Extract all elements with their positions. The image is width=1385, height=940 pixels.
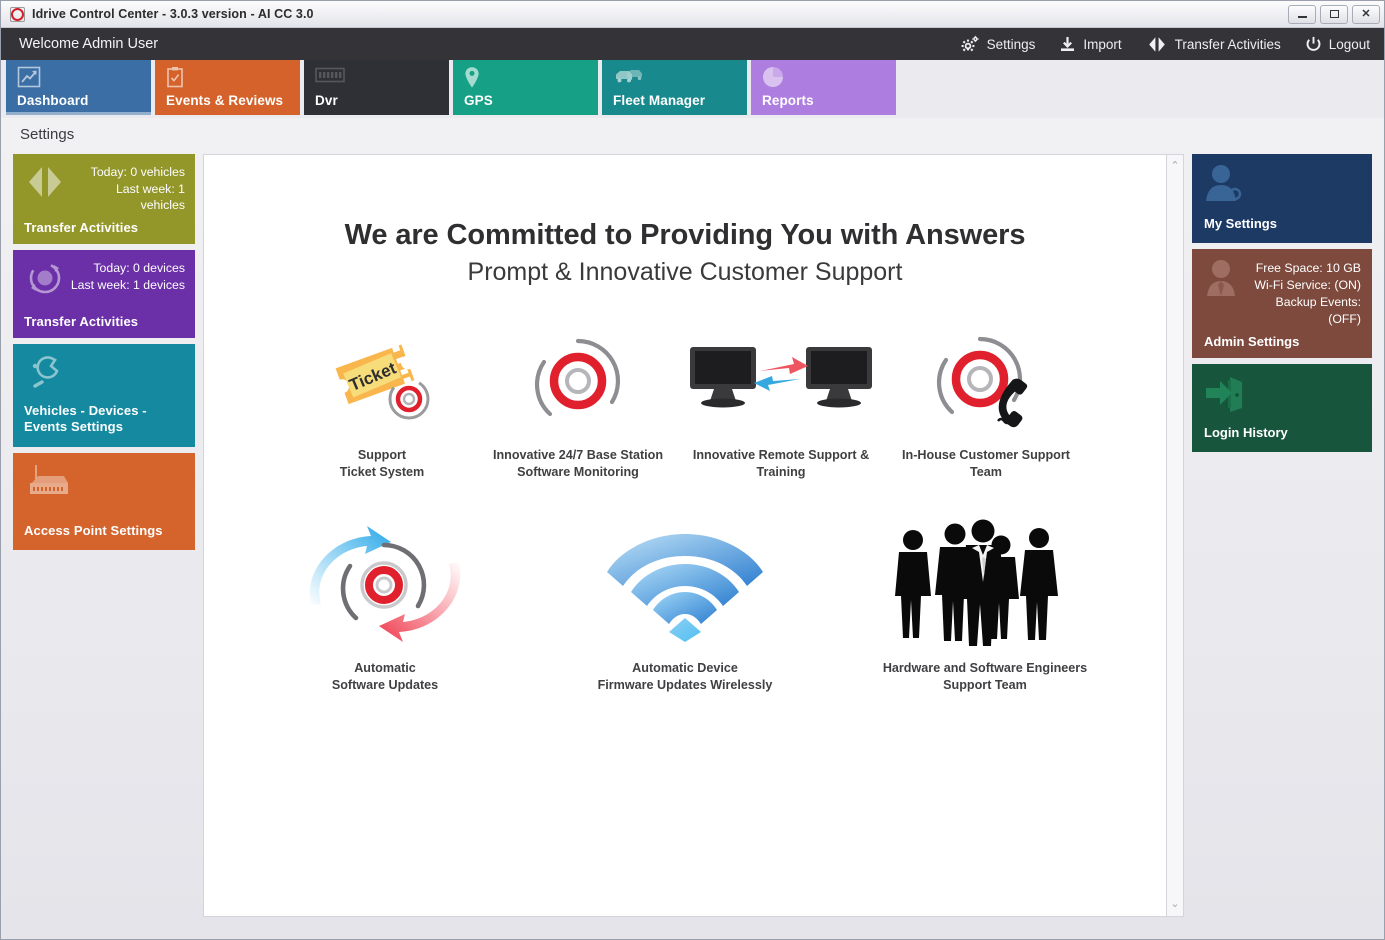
tab-fleet-manager[interactable]: Fleet Manager [602, 60, 747, 115]
hero-section: We are Committed to Providing You with A… [204, 155, 1166, 287]
sidebar-tile-label: Access Point Settings [24, 523, 185, 539]
feature-remote-support-training: Innovative Remote Support & Training [676, 329, 886, 482]
target-refresh-icon [235, 518, 535, 646]
main-content-panel: We are Committed to Providing You with A… [203, 154, 1167, 917]
appbar-logout-label: Logout [1329, 37, 1370, 52]
sync-target-icon [24, 258, 70, 303]
maximize-button[interactable] [1320, 5, 1348, 24]
appbar-import-label: Import [1083, 37, 1121, 52]
stat-line: Last week: 1 devices [71, 277, 185, 294]
feature-caption: Automatic Software Updates [235, 660, 535, 695]
login-arrow-icon [1204, 373, 1246, 418]
feature-automatic-software-updates: Automatic Software Updates [235, 518, 535, 695]
features-grid: Ticket [204, 329, 1166, 695]
feature-hardware-software-engineers: Hardware and Software Engineers Support … [835, 518, 1135, 695]
app-logo-icon [10, 7, 25, 22]
remote-monitors-icon [676, 329, 886, 433]
minimize-button[interactable] [1288, 5, 1316, 24]
left-sidebar: Today: 0 vehicles Last week: 1 vehicles … [13, 154, 195, 917]
chart-arrow-icon [17, 66, 142, 90]
application-window: Idrive Control Center - 3.0.3 version - … [0, 0, 1385, 940]
feature-support-ticket-system: Ticket [284, 329, 480, 482]
user-gear-icon [1204, 163, 1246, 210]
appbar-logout-button[interactable]: Logout [1305, 36, 1370, 53]
appbar-import-button[interactable]: Import [1059, 36, 1121, 53]
transfer-arrows-icon [24, 162, 70, 207]
tab-fleet-manager-label: Fleet Manager [613, 93, 705, 108]
app-bar: Welcome Admin User [1, 28, 1384, 60]
tab-dvr-label: Dvr [315, 93, 338, 108]
right-tile-label: My Settings [1204, 216, 1361, 231]
sidebar-tile-label: Transfer Activities [24, 314, 185, 330]
map-pin-icon [464, 66, 589, 90]
feature-caption: Support Ticket System [284, 447, 480, 482]
features-row-1: Ticket [234, 329, 1136, 482]
page-body: Today: 0 vehicles Last week: 1 vehicles … [1, 150, 1384, 929]
sidebar-tile-transfer-activities-vehicles[interactable]: Today: 0 vehicles Last week: 1 vehicles … [13, 154, 195, 244]
page-subtitle: Prompt & Innovative Customer Support [204, 258, 1166, 287]
tab-events-reviews[interactable]: Events & Reviews [155, 60, 300, 115]
welcome-message: Welcome Admin User [19, 36, 158, 52]
feature-device-firmware-updates: Automatic Device Firmware Updates Wirele… [535, 518, 835, 695]
stat-line: Today: 0 devices [71, 260, 185, 277]
power-icon [1305, 36, 1322, 53]
target-phone-icon [886, 329, 1086, 433]
pie-chart-icon [762, 66, 887, 90]
breadcrumb: Settings [20, 126, 74, 143]
appbar-transfer-label: Transfer Activities [1175, 37, 1281, 52]
right-sidebar: My Settings Free Space: 10 GB Wi-Fi Serv… [1192, 154, 1372, 917]
tab-events-reviews-label: Events & Reviews [166, 93, 283, 108]
sidebar-tile-stats: Today: 0 devices Last week: 1 devices [71, 258, 185, 293]
main-content-scrollbar[interactable]: ⌃ ⌄ [1167, 154, 1184, 917]
tab-dashboard[interactable]: Dashboard [6, 60, 151, 115]
app-bar-actions: Settings Import Transf [960, 35, 1370, 53]
feature-base-station-monitoring: Innovative 24/7 Base Station Software Mo… [480, 329, 676, 482]
sidebar-tile-vehicles-devices-events-settings[interactable]: Vehicles - Devices - Events Settings [13, 344, 195, 447]
right-tile-label: Login History [1204, 425, 1361, 440]
tab-dashboard-label: Dashboard [17, 93, 88, 108]
main-panel-wrapper: We are Committed to Providing You with A… [203, 154, 1184, 917]
sidebar-tile-stats: Today: 0 vehicles Last week: 1 vehicles [70, 162, 185, 214]
status-bar [1, 929, 1384, 939]
team-silhouette-icon [835, 518, 1135, 646]
dvr-icon [315, 66, 440, 90]
tab-reports-label: Reports [762, 93, 814, 108]
feature-caption: In-House Customer Support Team [886, 447, 1086, 482]
breadcrumb-bar: Settings [1, 118, 1384, 150]
wrench-icon [24, 352, 70, 397]
right-tile-my-settings[interactable]: My Settings [1192, 154, 1372, 243]
download-icon [1059, 36, 1076, 53]
feature-caption: Innovative 24/7 Base Station Software Mo… [480, 447, 676, 482]
sidebar-tile-access-point-settings[interactable]: Access Point Settings [13, 453, 195, 551]
feature-caption: Innovative Remote Support & Training [676, 447, 886, 482]
clipboard-check-icon [166, 66, 291, 90]
vehicles-icon [613, 66, 738, 90]
appbar-settings-label: Settings [987, 37, 1036, 52]
sidebar-tile-transfer-activities-devices[interactable]: Today: 0 devices Last week: 1 devices Tr… [13, 250, 195, 338]
window-title: Idrive Control Center - 3.0.3 version - … [32, 7, 314, 21]
page-title: We are Committed to Providing You with A… [204, 219, 1166, 252]
sidebar-tile-label: Vehicles - Devices - Events Settings [24, 403, 185, 435]
support-ticket-icon: Ticket [284, 329, 480, 433]
stat-line: Free Space: 10 GB [1246, 260, 1361, 277]
feature-caption: Hardware and Software Engineers Support … [835, 660, 1135, 695]
gear-icon [960, 35, 980, 53]
appbar-settings-button[interactable]: Settings [960, 35, 1036, 53]
scroll-up-icon[interactable]: ⌃ [1170, 161, 1179, 172]
transfer-icon [1146, 36, 1168, 53]
tab-reports[interactable]: Reports [751, 60, 896, 115]
window-controls: ✕ [1288, 5, 1380, 24]
tab-dvr[interactable]: Dvr [304, 60, 449, 115]
admin-user-icon [1204, 258, 1246, 305]
stat-line: Today: 0 vehicles [70, 164, 185, 181]
right-tile-admin-settings[interactable]: Free Space: 10 GB Wi-Fi Service: (ON) Ba… [1192, 249, 1372, 358]
right-tile-label: Admin Settings [1204, 334, 1361, 349]
stat-line: Wi-Fi Service: (ON) [1246, 277, 1361, 294]
tab-gps-label: GPS [464, 93, 493, 108]
feature-caption: Automatic Device Firmware Updates Wirele… [535, 660, 835, 695]
main-navigation-tabs: Dashboard Events & Reviews [1, 60, 1384, 118]
feature-in-house-support-team: In-House Customer Support Team [886, 329, 1086, 482]
sidebar-tile-label: Transfer Activities [24, 220, 185, 236]
right-tile-login-history[interactable]: Login History [1192, 364, 1372, 452]
close-button[interactable]: ✕ [1352, 5, 1380, 24]
title-bar: Idrive Control Center - 3.0.3 version - … [1, 1, 1384, 28]
wifi-icon [535, 518, 835, 646]
appbar-transfer-activities-button[interactable]: Transfer Activities [1146, 36, 1281, 53]
router-icon [24, 461, 70, 510]
features-row-2: Automatic Software Updates [234, 518, 1136, 695]
scroll-down-icon[interactable]: ⌄ [1170, 899, 1179, 910]
stat-line: Backup Events: (OFF) [1246, 294, 1361, 328]
tab-gps[interactable]: GPS [453, 60, 598, 115]
target-logo-icon [480, 329, 676, 433]
right-tile-stats: Free Space: 10 GB Wi-Fi Service: (ON) Ba… [1246, 258, 1361, 328]
stat-line: Last week: 1 vehicles [70, 181, 185, 214]
